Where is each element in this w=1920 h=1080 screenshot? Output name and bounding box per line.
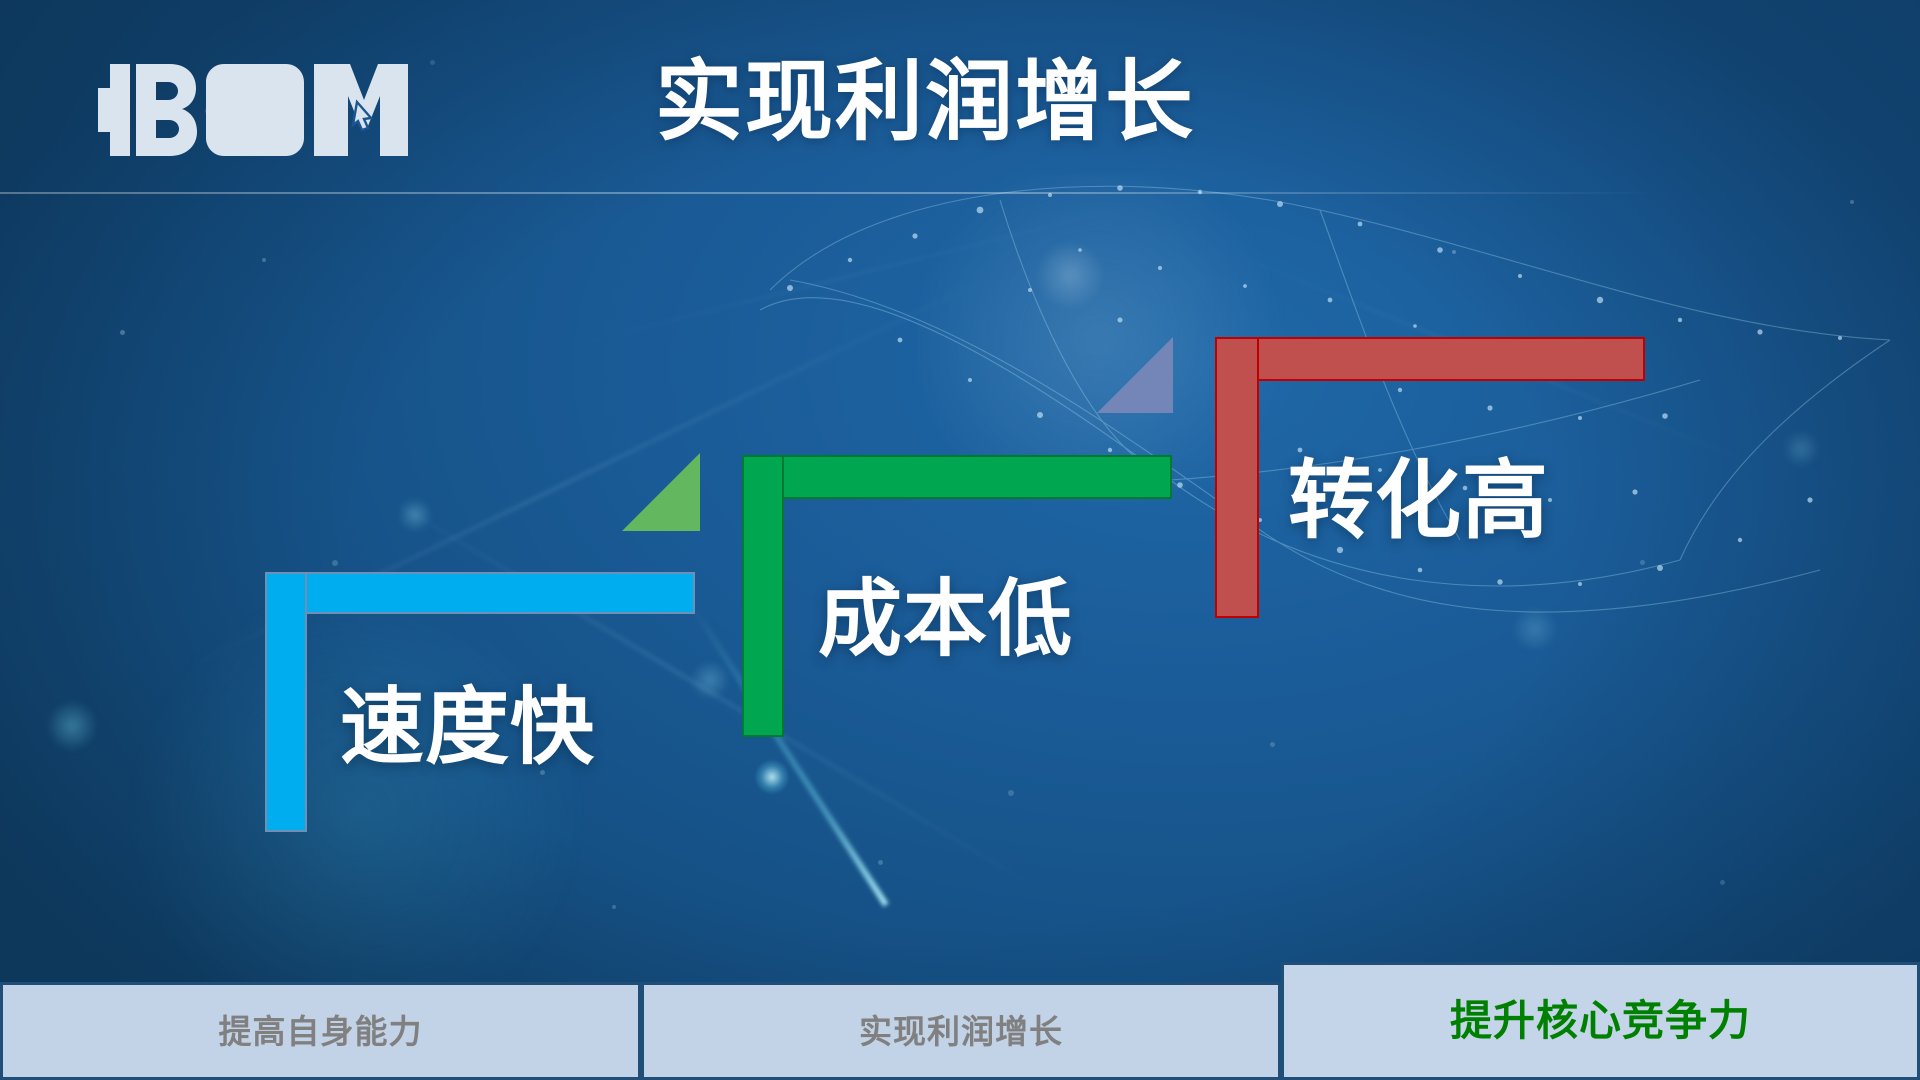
nav-tab-profit-growth[interactable]: 实现利润增长 [641,982,1281,1080]
bracket-arm-horizontal [742,455,1172,499]
feature-label-speed: 速度快 [340,660,595,781]
bracket-arm-vertical [1215,337,1259,618]
triangle-icon [622,453,700,531]
bracket-arm-horizontal [1215,337,1645,381]
feature-label-cost: 成本低 [818,552,1073,673]
bracket-arm-vertical [265,572,307,832]
feature-label-conversion: 转化高 [1288,430,1549,555]
nav-tab-improve-capability[interactable]: 提高自身能力 [0,982,641,1080]
nav-tab-label: 提升核心竞争力 [1450,1000,1751,1042]
bottom-navigation: 提高自身能力 实现利润增长 提升核心竞争力 [0,962,1920,1080]
header-divider [0,192,1660,194]
bracket-arm-vertical [742,455,784,737]
nav-tab-label: 提高自身能力 [219,1015,423,1048]
nav-tab-label: 实现利润增长 [859,1015,1063,1048]
presentation-slide: 实现利润增长 转化高 成本低 速度快 提高自身能力 实现利润增长 提升核心竞争力 [0,0,1920,1080]
slide-header: 实现利润增长 [0,0,1920,196]
page-title: 实现利润增长 [655,56,1195,148]
nav-tab-core-competitiveness[interactable]: 提升核心竞争力 [1281,962,1920,1080]
bracket-arm-horizontal [265,572,695,614]
comet-head [755,760,789,794]
bom-logo [96,62,408,158]
triangle-icon [1097,337,1173,413]
